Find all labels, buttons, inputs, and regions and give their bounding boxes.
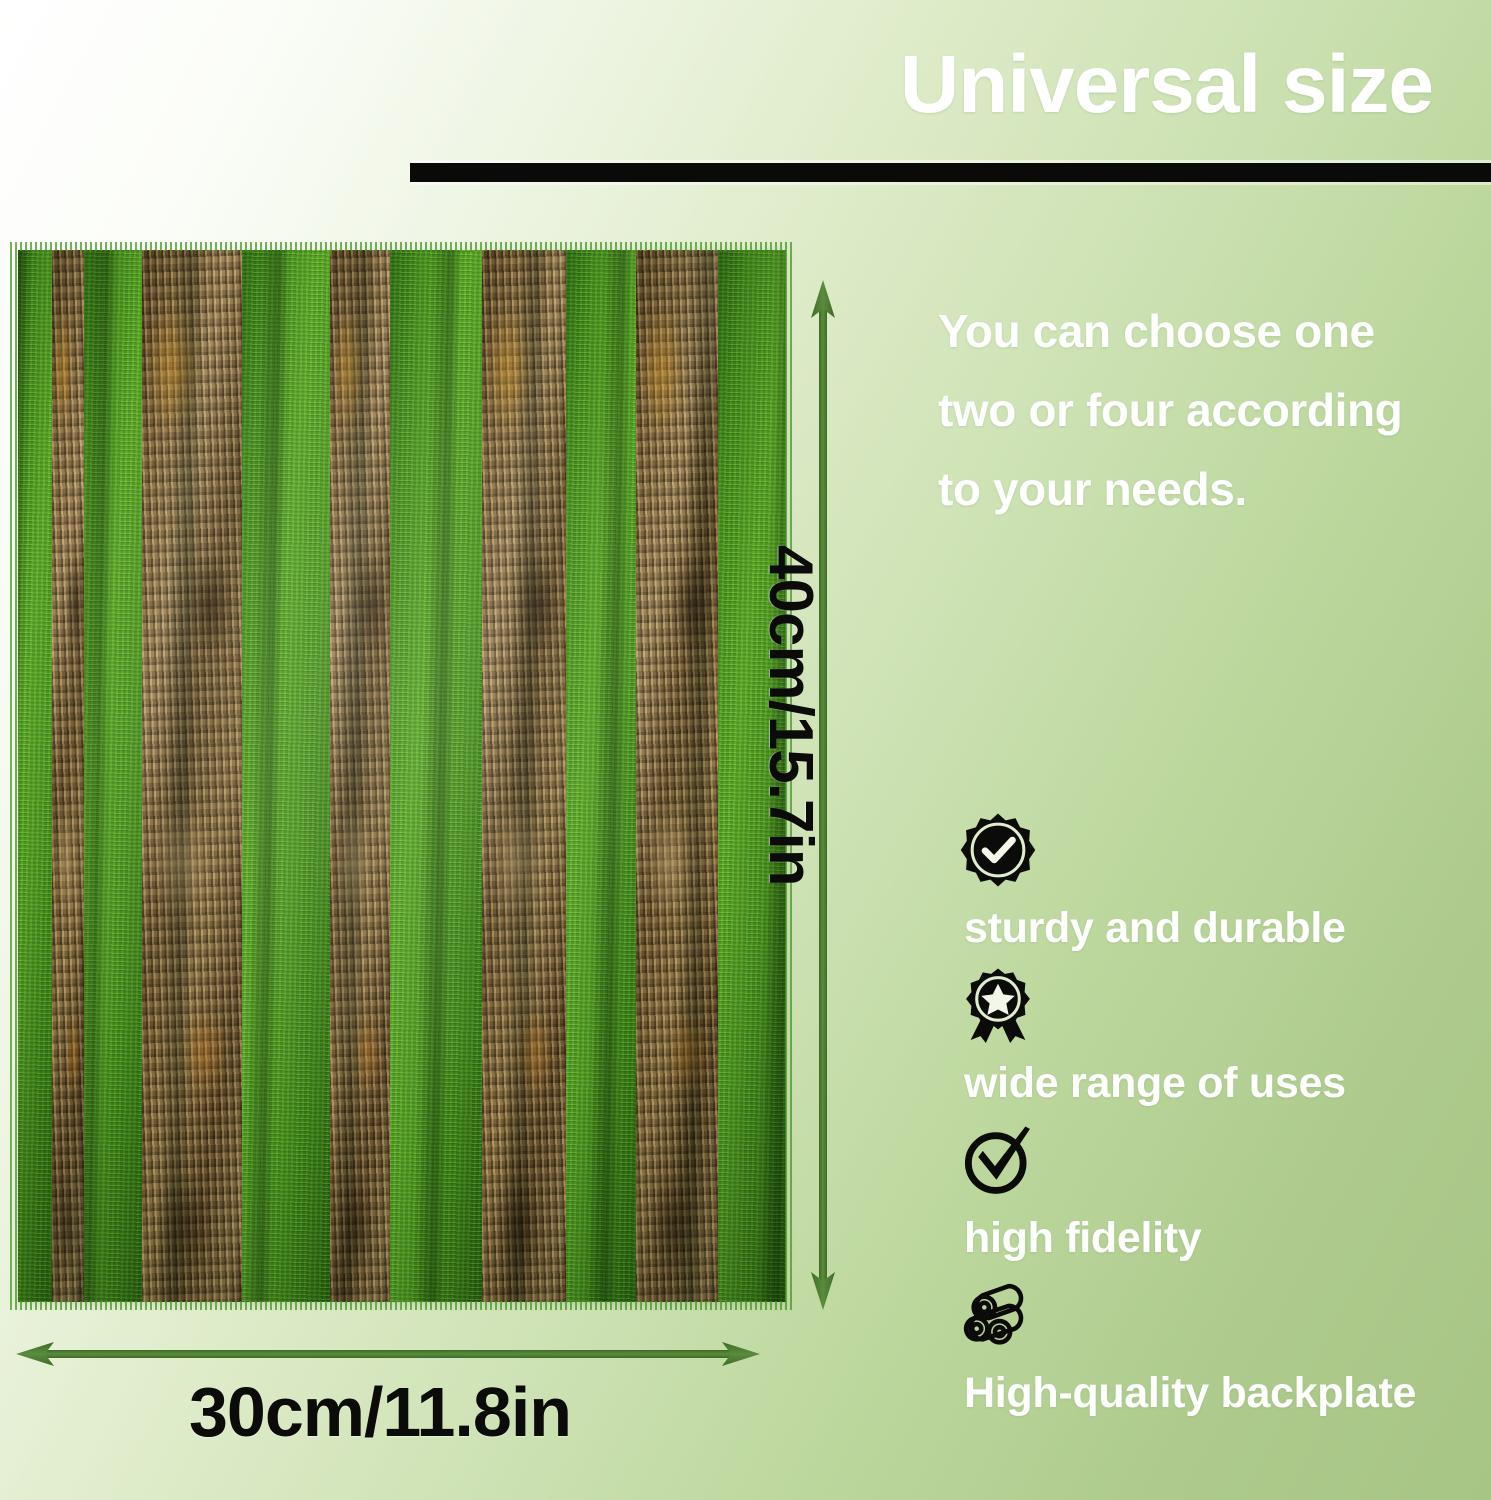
description-line-1: You can choose one [938,292,1491,371]
feature-label: high fidelity [964,1214,1201,1263]
feature-item-sturdy-and-durable: sturdy and durable [960,812,1491,967]
feature-item-high-quality-backplate: High-quality backplate [960,1277,1491,1432]
description-text: You can choose one two or four according… [938,292,1491,529]
feature-item-wide-range-of-uses: wide range of uses [960,967,1491,1122]
height-dimension-label: 40cm/15.7in [755,545,826,1065]
description-line-3: to your needs. [938,450,1491,529]
width-dimension-label: 30cm/11.8in [0,1372,760,1452]
feature-list: sturdy and durable wide range of uses hi… [960,812,1491,1432]
circle-check-icon [960,1122,1036,1198]
description-line-2: two or four according [938,371,1491,450]
product-image-moss-mat [18,250,786,1302]
feature-label: sturdy and durable [964,904,1346,953]
stacked-logs-icon [960,1277,1036,1353]
feature-label: High-quality backplate [964,1369,1416,1418]
page-title: Universal size [613,42,1433,128]
award-ribbon-icon [960,967,1036,1043]
moss-mat-surface [18,250,786,1302]
width-dimension-arrow [14,1338,762,1370]
feature-label: wide range of uses [964,1059,1346,1108]
moss-mat-vignette [18,250,786,1302]
title-divider-rule [410,163,1491,182]
feature-item-high-fidelity: high fidelity [960,1122,1491,1277]
badge-check-icon [960,812,1036,888]
